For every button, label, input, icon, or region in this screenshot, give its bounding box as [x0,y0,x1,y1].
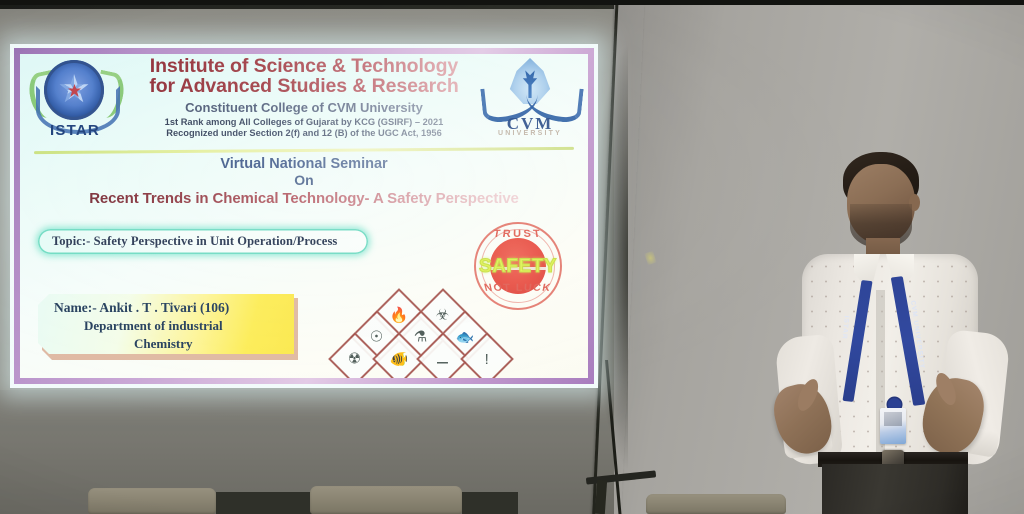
presenter-name-box: Name:- Ankit . T . Tivari (106) Departme… [38,294,294,354]
badge-middle-text: SAFETY [472,256,564,278]
topic-pill: Topic:- Safety Perspective in Unit Opera… [38,229,368,254]
lecture-hall-photo: ISTAR Institute of Science & Technology … [0,0,1024,514]
header-divider [34,147,574,154]
presenter-name-line: Name:- Ankit . T . Tivari (106) [54,300,229,316]
presenter: ISTAR CVM UNIVERSITY [770,150,1020,514]
seminar-title-line3: Recent Trends in Chemical Technology- A … [20,190,588,207]
presenter-department-line1: Department of industrial [84,318,223,334]
institute-title-line2: for Advanced Studies & Research [124,76,484,96]
topic-text: Topic:- Safety Perspective in Unit Opera… [38,234,337,249]
frame-top-edge [0,0,1024,5]
istar-emblem-icon: ISTAR [28,60,120,144]
presenter-department-line2: Chemistry [134,336,193,352]
cvm-lotus-emblem-icon: CVM UNIVERSITY [480,56,580,144]
presenter-trousers [822,464,968,514]
slide-header: ISTAR Institute of Science & Technology … [20,54,588,146]
presenter-id-badge-photo [884,412,902,426]
seminar-title-line1: Virtual National Seminar [20,156,588,172]
chair-1 [88,488,216,514]
institute-title-line1: Institute of Science & Technology [124,56,484,76]
chair-gap-2 [462,492,518,514]
cvm-logo-sub: UNIVERSITY [486,130,574,137]
accreditation-line1: 1st Rank among All Colleges of Gujarat b… [124,117,484,127]
accreditation-line2: Recognized under Section 2(f) and 12 (B)… [124,128,484,138]
institute-subtitle: Constituent College of CVM University [124,100,484,115]
chair-gap-1 [216,492,312,514]
istar-logo-label: ISTAR [40,122,110,139]
chair-2 [310,486,462,514]
badge-top-text: TRUST [470,229,566,240]
institute-name-block: Institute of Science & Technology for Ad… [124,56,484,138]
presentation-slide: ISTAR Institute of Science & Technology … [20,54,588,378]
chair-3 [646,494,786,514]
seminar-title-line2: On [20,172,588,188]
ghs-pictogram-cluster: 🔥 ☣ ☉ ⚗ 🐟 ☢ 🐠 ⚊ ! [328,292,512,370]
